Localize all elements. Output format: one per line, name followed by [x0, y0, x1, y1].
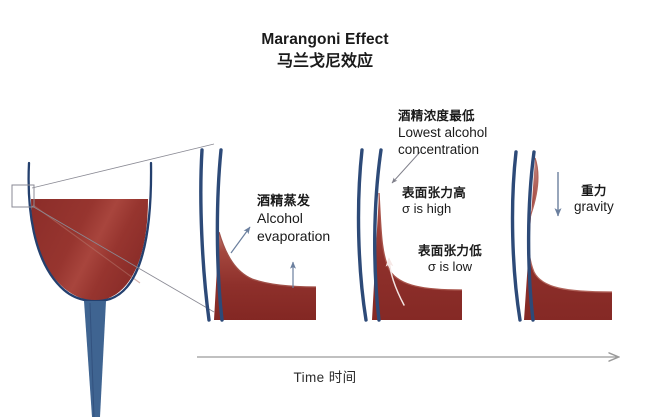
label-surface-tension-high: 表面张力高 σ is high: [402, 182, 466, 216]
label-concentration-zh: 酒精浓度最低: [398, 105, 487, 124]
label-tension-low-en: σ is low: [418, 259, 482, 274]
label-tension-high-zh: 表面张力高: [402, 182, 466, 201]
label-evaporation-en-line1: Alcohol: [257, 209, 330, 227]
title-english: Marangoni Effect: [0, 31, 650, 49]
label-alcohol-evaporation: 酒精蒸发 Alcohol evaporation: [257, 190, 330, 245]
wine-liquid: [31, 199, 148, 301]
label-concentration-en-line1: Lowest alcohol: [398, 124, 487, 141]
panel1-glass-outer-wall: [201, 150, 209, 320]
glass-stem: [84, 301, 106, 417]
title-chinese: 马兰戈尼效应: [0, 53, 650, 72]
label-tension-low-zh: 表面张力低: [418, 240, 482, 259]
panel3-glass-outer-wall: [513, 152, 520, 320]
surface-tension-flow-stage: [359, 150, 462, 320]
label-concentration-en-line2: concentration: [398, 141, 487, 158]
label-gravity-zh: 重力: [574, 180, 614, 199]
label-lowest-concentration: 酒精浓度最低 Lowest alcohol concentration: [398, 105, 487, 159]
label-surface-tension-low: 表面张力低 σ is low: [418, 240, 482, 274]
arrow-up-right-icon: [231, 227, 250, 253]
label-time-axis: Time 时间: [0, 370, 650, 386]
label-tension-high-en: σ is high: [402, 201, 466, 216]
label-evaporation-zh: 酒精蒸发: [257, 190, 330, 209]
panel3-droplet-edge: [528, 158, 612, 292]
label-evaporation-en-line2: evaporation: [257, 227, 330, 245]
panel2-glass-outer-wall: [359, 150, 366, 320]
gravity-droplet-stage: [513, 152, 612, 320]
label-gravity-en: gravity: [574, 199, 614, 214]
marangoni-effect-figure: Marangoni Effect 马兰戈尼效应 酒精蒸发 Alcohol eva…: [0, 0, 650, 417]
label-gravity: 重力 gravity: [574, 180, 614, 214]
